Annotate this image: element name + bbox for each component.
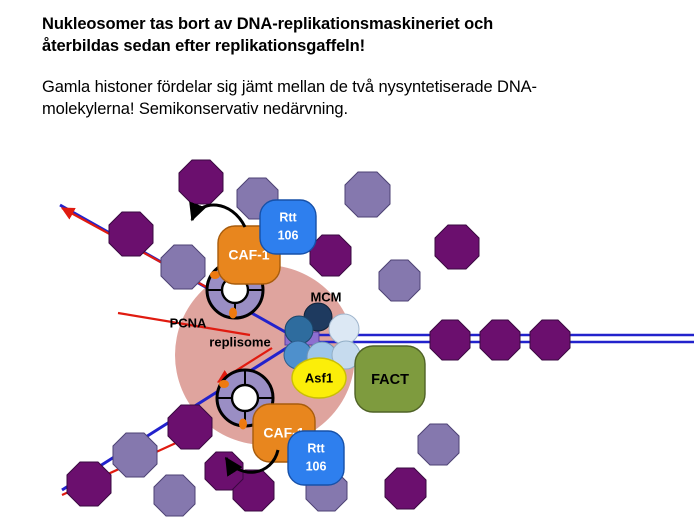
nucleosome-old: [67, 462, 111, 506]
nucleosome-old: [430, 320, 470, 360]
pcna-label-upper: PCNA: [170, 315, 207, 330]
rtt106-top-label-line1: Rtt: [279, 210, 297, 224]
rtt106-top[interactable]: Rtt 106: [260, 200, 316, 254]
nucleosome-old: [435, 225, 479, 269]
mcm-subunit: [285, 316, 313, 344]
nucleosome-new: [418, 424, 459, 465]
heading-line-1: Nukleosomer tas bort av DNA-replikations…: [42, 14, 672, 36]
nucleosome-new: [161, 245, 205, 289]
replisome-label: replisome: [209, 334, 270, 349]
page-title: Nukleosomer tas bort av DNA-replikations…: [42, 14, 672, 58]
mcm-label: MCM: [310, 289, 341, 304]
subheading-line-1: Gamla histoner fördelar sig jämt mellan …: [42, 76, 672, 98]
heading-line-2: återbildas sedan efter replikationsgaffe…: [42, 36, 672, 58]
asf1-label: Asf1: [305, 370, 333, 385]
upper-left-nucleosomes: [109, 212, 205, 289]
nucleosome-old: [480, 320, 520, 360]
nucleosome-old: [530, 320, 570, 360]
rtt106-bottom[interactable]: Rtt 106: [288, 431, 344, 485]
right-strand-nucleosomes: [430, 320, 570, 360]
subheading-line-2: molekylerna! Semikonservativ nedärvning.: [42, 98, 672, 120]
nucleosome-new: [379, 260, 420, 301]
fact-label: FACT: [371, 372, 409, 388]
nucleosome-old: [168, 405, 212, 449]
nucleosome-old: [179, 160, 223, 204]
asf1[interactable]: Asf1: [292, 358, 346, 398]
nucleosome-new: [113, 433, 157, 477]
rtt106-bottom-label-line2: 106: [306, 459, 327, 473]
nucleosome-old: [205, 452, 243, 490]
nucleosome-old: [385, 468, 426, 509]
nucleosome-new: [154, 475, 195, 516]
fact[interactable]: FACT: [355, 346, 425, 412]
nucleosome-new: [345, 172, 390, 217]
slide-canvas: Nukleosomer tas bort av DNA-replikations…: [0, 0, 694, 520]
recycling-arrow-upper: [192, 205, 245, 227]
rtt106-bottom-label-line1: Rtt: [307, 441, 325, 455]
nucleosome-old: [109, 212, 153, 256]
rtt106-top-label-line2: 106: [278, 228, 299, 242]
page-subtitle: Gamla histoner fördelar sig jämt mellan …: [42, 76, 672, 121]
replication-fork-diagram: PCNA M: [0, 150, 694, 520]
